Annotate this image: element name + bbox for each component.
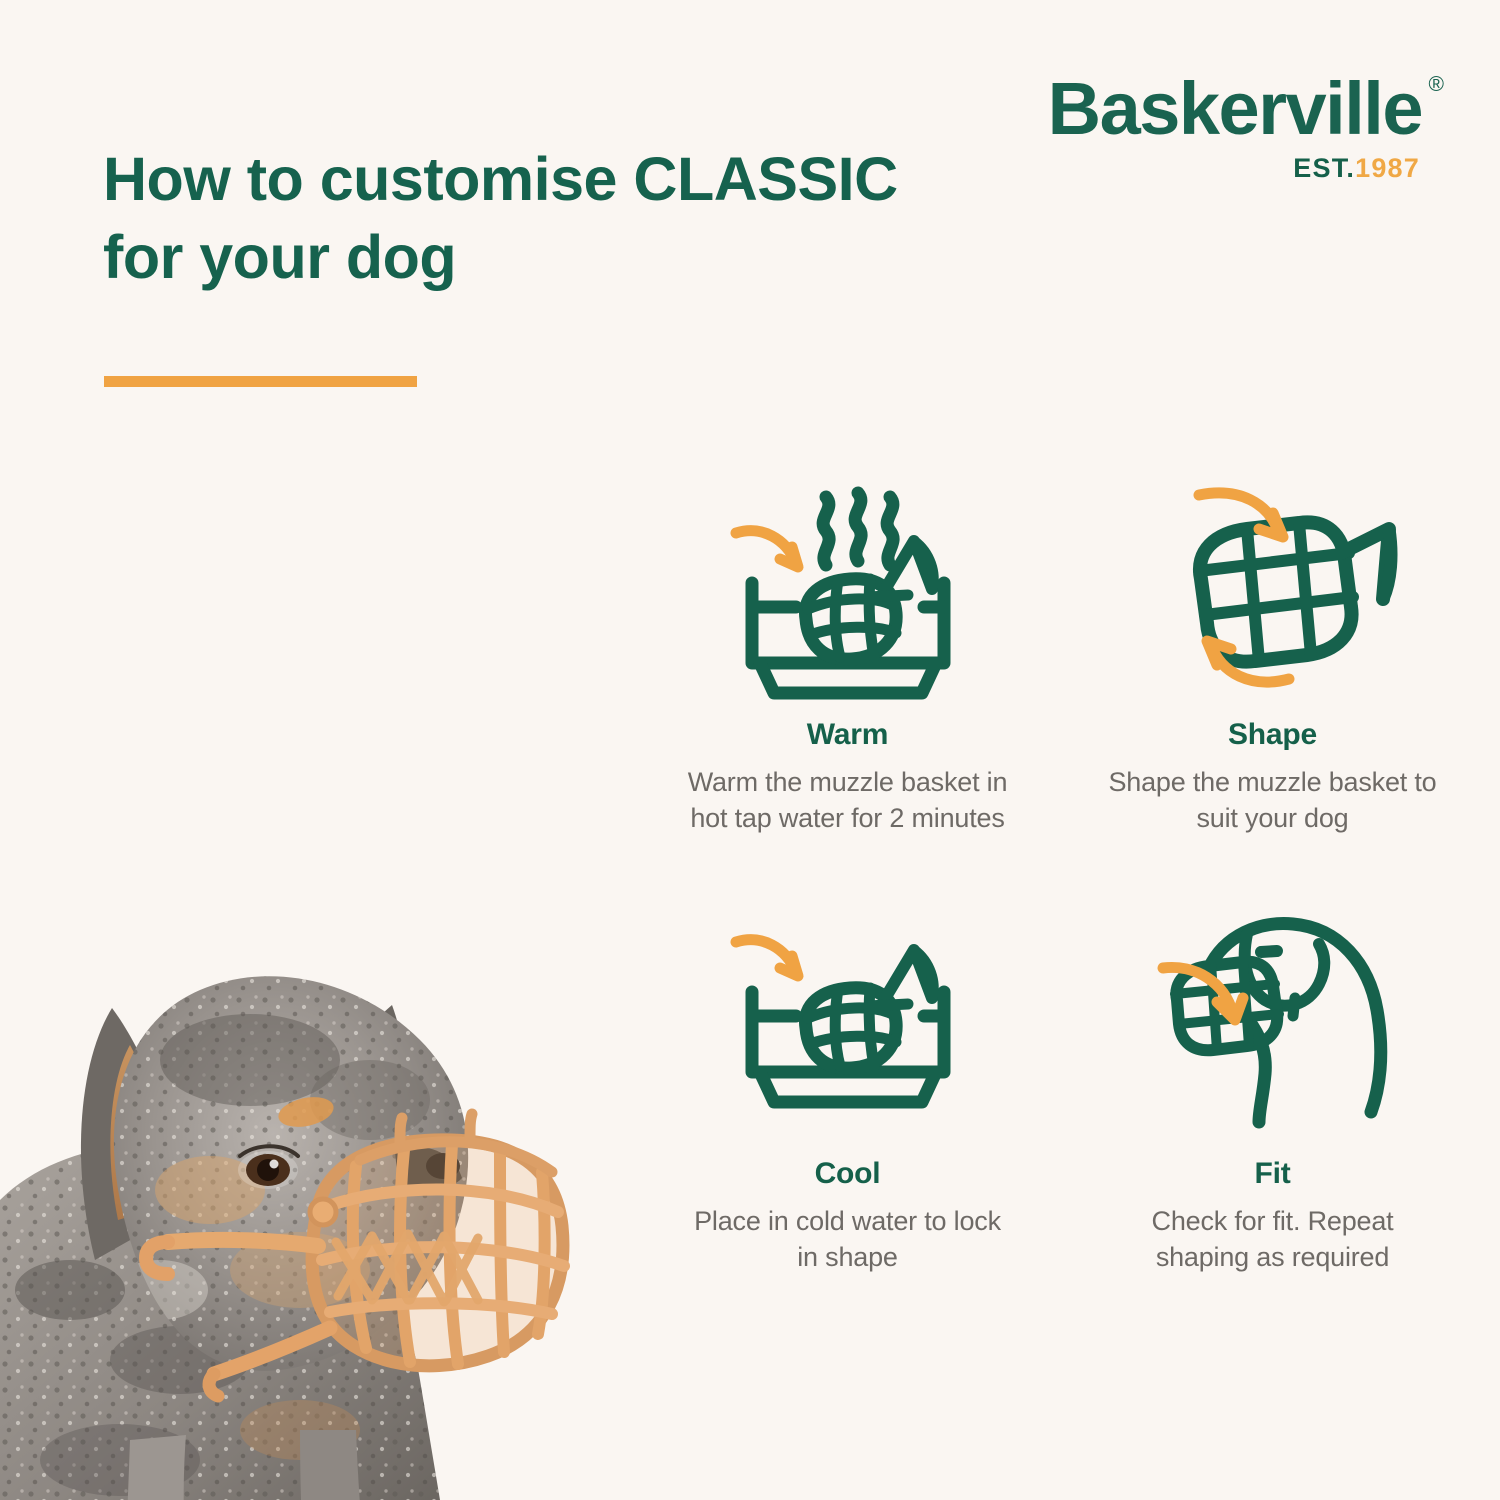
step-title-shape: Shape	[1228, 718, 1317, 752]
step-shape: Shape Shape the muzzle basket to suit yo…	[1065, 462, 1480, 883]
logo-established: EST.1987	[1048, 155, 1420, 182]
step-title-fit: Fit	[1254, 1157, 1290, 1191]
page-title: How to customise CLASSIC for your dog	[103, 140, 923, 296]
logo-est-year: 1987	[1355, 153, 1420, 183]
brand-logo: Baskerville ® EST.1987	[1048, 72, 1422, 182]
dog-head-with-muzzle-icon	[1143, 901, 1403, 1151]
step-desc-cool: Place in cold water to lock in shape	[683, 1204, 1013, 1275]
orange-arrow-icon	[736, 531, 798, 567]
accent-rule	[104, 376, 417, 387]
step-fit: Fit Check for fit. Repeat shaping as req…	[1065, 901, 1480, 1322]
steps-grid: Warm Warm the muzzle basket in hot tap w…	[640, 462, 1480, 1322]
logo-wordmark: Baskerville ®	[1048, 72, 1422, 146]
step-title-warm: Warm	[807, 718, 888, 752]
logo-est-label: EST.	[1293, 153, 1355, 183]
step-desc-fit: Check for fit. Repeat shaping as require…	[1108, 1204, 1438, 1275]
logo-wordmark-text: Baskerville	[1048, 67, 1422, 150]
basin-with-steam-icon	[718, 462, 978, 712]
step-desc-shape: Shape the muzzle basket to suit your dog	[1108, 765, 1438, 836]
basin-cold-water-icon	[718, 901, 978, 1151]
step-desc-warm: Warm the muzzle basket in hot tap water …	[683, 765, 1013, 836]
muzzle-squeeze-arrows-icon	[1143, 462, 1403, 712]
dog-photo-illustration	[0, 500, 620, 1500]
registered-trademark-icon: ®	[1429, 74, 1444, 95]
step-warm: Warm Warm the muzzle basket in hot tap w…	[640, 462, 1055, 883]
step-cool: Cool Place in cold water to lock in shap…	[640, 901, 1055, 1322]
orange-arrow-icon	[736, 940, 798, 976]
step-title-cool: Cool	[815, 1157, 881, 1191]
dog-product-photo	[0, 500, 620, 1500]
